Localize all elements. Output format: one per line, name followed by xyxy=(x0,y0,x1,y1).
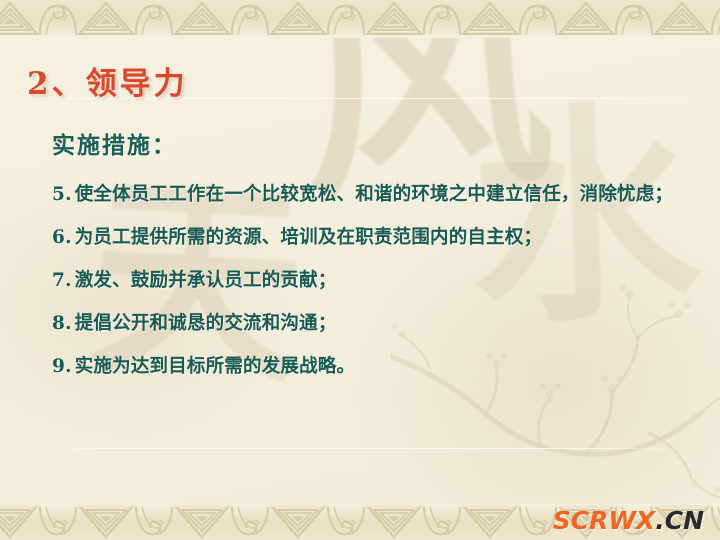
list-item: 7. 激发、鼓励并承认员工的贡献； xyxy=(52,266,682,296)
tribal-border-top xyxy=(0,0,720,38)
list-item-number: 5. xyxy=(52,180,72,210)
list-item-text: 激发、鼓励并承认员工的贡献； xyxy=(75,266,682,296)
slide-canvas: 风 天 水 xyxy=(0,0,720,540)
list-item-number: 8. xyxy=(52,309,72,339)
list-item-number: 7. xyxy=(52,266,72,296)
list-item-text: 使全体员工工作在一个比较宽松、和谐的环境之中建立信任，消除忧虑； xyxy=(75,180,682,210)
logo-primary-text: SCRWX xyxy=(553,506,655,535)
list-item: 9. 实施为达到目标所需的发展战略。 xyxy=(52,352,682,382)
slide-body: 实施措施： 5. 使全体员工工作在一个比较宽松、和谐的环境之中建立信任，消除忧虑… xyxy=(52,126,682,395)
list-item-text: 实施为达到目标所需的发展战略。 xyxy=(75,352,682,382)
list-item-text: 提倡公开和诚恳的交流和沟通； xyxy=(75,309,682,339)
site-watermark-logo: SCRWX.CN xyxy=(553,506,704,535)
list-item: 8. 提倡公开和诚恳的交流和沟通； xyxy=(52,309,682,339)
list-item: 6. 为员工提供所需的资源、培训及在职责范围内的自主权； xyxy=(52,223,682,253)
logo-secondary-text: .CN xyxy=(655,506,704,535)
list-item-number: 9. xyxy=(52,352,72,382)
list-item-number: 6. xyxy=(52,223,72,253)
list-item-text: 为员工提供所需的资源、培训及在职责范围内的自主权； xyxy=(75,223,682,253)
measures-list: 5. 使全体员工工作在一个比较宽松、和谐的环境之中建立信任，消除忧虑； 6. 为… xyxy=(52,180,682,382)
list-item: 5. 使全体员工工作在一个比较宽松、和谐的环境之中建立信任，消除忧虑； xyxy=(52,180,682,210)
hairline-lower xyxy=(48,448,688,449)
body-subheading: 实施措施： xyxy=(52,126,682,160)
slide-title: 2、领导力 xyxy=(27,58,188,103)
